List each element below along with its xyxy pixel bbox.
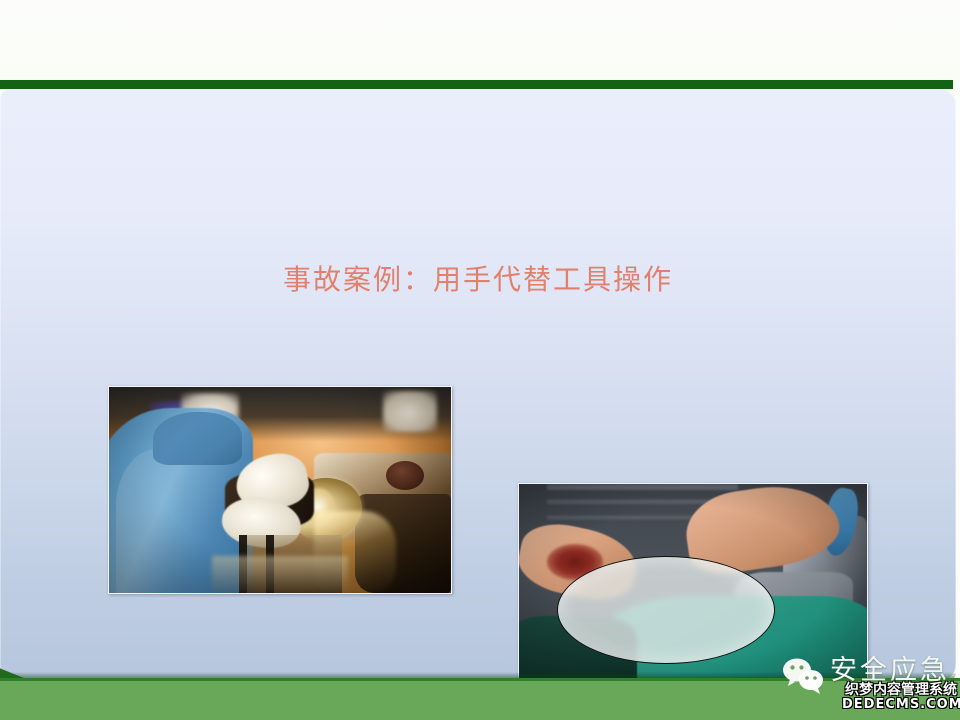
accident-photo-left-content: [109, 387, 451, 593]
slide-content-panel: 事故案例：用手代替工具操作: [0, 89, 956, 681]
watermark-line-cn: 织梦内容管理系统: [842, 682, 960, 698]
wechat-icon: [780, 656, 828, 696]
slide-canvas: 事故案例：用手代替工具操作: [0, 0, 960, 720]
accident-photo-left: [108, 386, 452, 594]
slide-top-strip: [0, 0, 960, 80]
watermark-line-en: DEDECMS.COM: [842, 698, 960, 713]
top-green-rule: [0, 80, 953, 89]
branding-block: 安全应急 织梦内容管理系统 DEDECMS.COM: [780, 650, 960, 720]
site-watermark: 织梦内容管理系统 DEDECMS.COM: [842, 682, 960, 713]
page-title: 事故案例：用手代替工具操作: [0, 261, 956, 299]
